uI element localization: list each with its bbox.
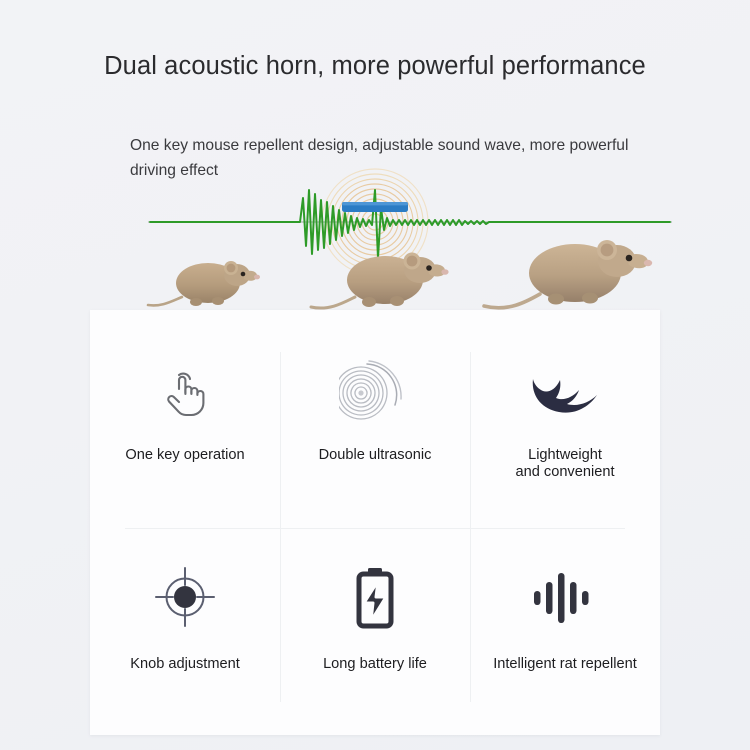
ultrasonic-waves-icon bbox=[339, 340, 411, 445]
hand-tap-icon bbox=[155, 340, 215, 445]
crosshair-knob-icon bbox=[153, 545, 217, 650]
mouse-large bbox=[480, 220, 660, 315]
feature-lightweight-convenient[interactable]: Lightweight and convenient bbox=[470, 310, 660, 523]
page-title: Dual acoustic horn, more powerful perfor… bbox=[0, 52, 750, 81]
mouse-medium bbox=[305, 235, 455, 315]
feature-intelligent-rat-repellent[interactable]: Intelligent rat repellent bbox=[470, 523, 660, 736]
feature-label: Knob adjustment bbox=[130, 656, 240, 673]
feature-double-ultrasonic[interactable]: Double ultrasonic bbox=[280, 310, 470, 523]
sound-bars-icon bbox=[532, 545, 598, 650]
feather-icon bbox=[523, 340, 607, 445]
feature-label: Intelligent rat repellent bbox=[493, 656, 637, 673]
feature-label: Double ultrasonic bbox=[319, 447, 432, 464]
feature-one-key-operation[interactable]: One key operation bbox=[90, 310, 280, 523]
feature-knob-adjustment[interactable]: Knob adjustment bbox=[90, 523, 280, 736]
mouse-small bbox=[140, 245, 265, 313]
feature-label: Long battery life bbox=[323, 656, 427, 673]
feature-label: One key operation bbox=[125, 447, 244, 464]
feature-label: Lightweight and convenient bbox=[516, 447, 615, 481]
features-card: One key operation bbox=[90, 310, 660, 735]
feature-long-battery-life[interactable]: Long battery life bbox=[280, 523, 470, 736]
battery-bolt-icon bbox=[351, 545, 399, 650]
